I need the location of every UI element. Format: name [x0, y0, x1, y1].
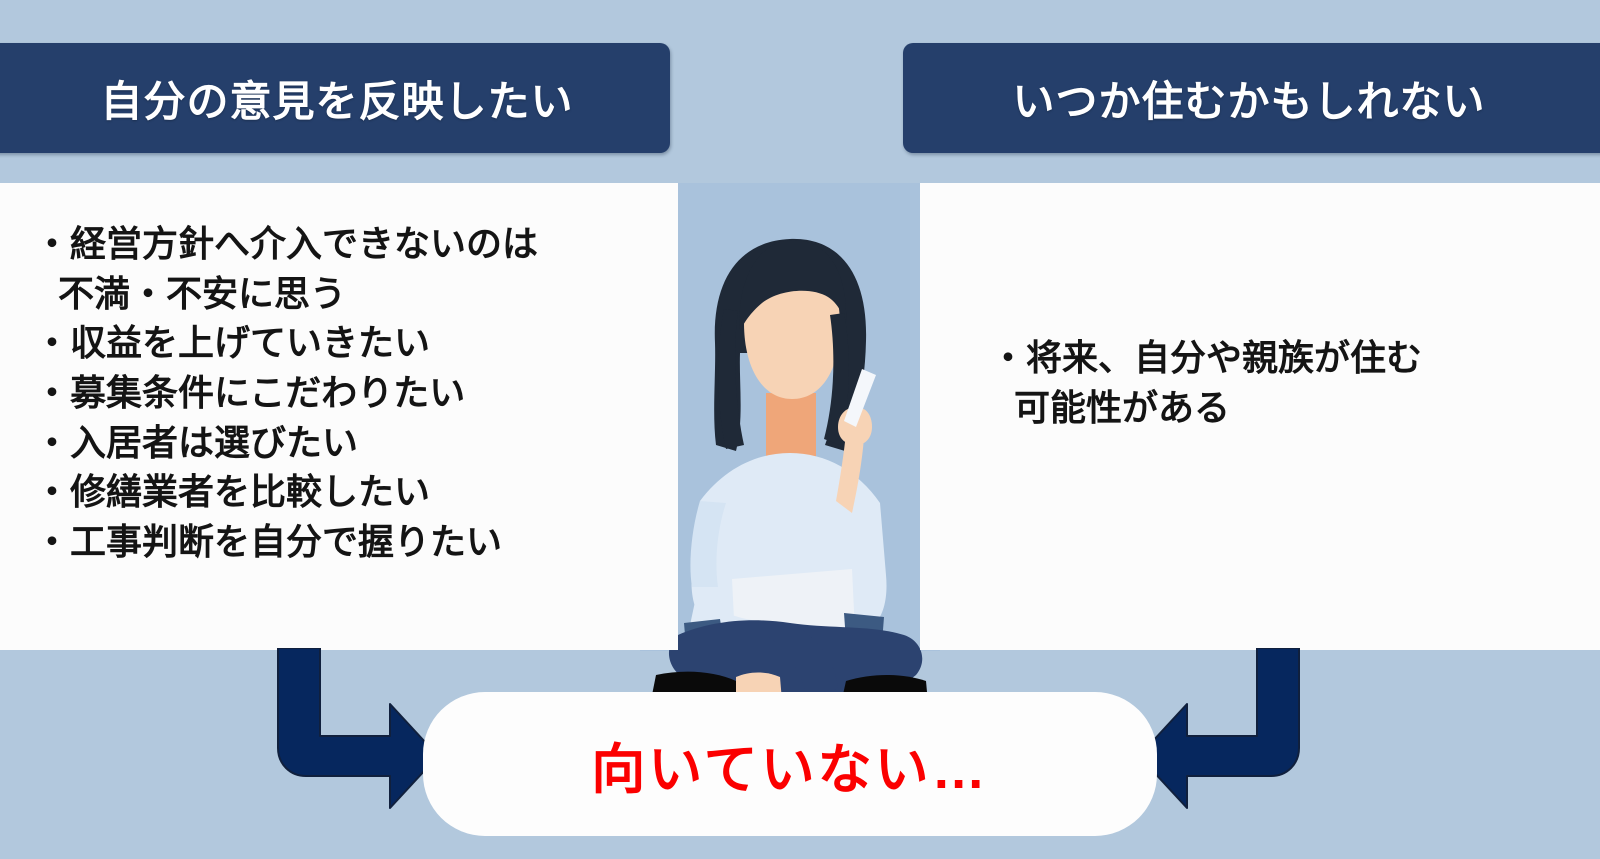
list-item: ・将来、自分や親族が住む 可能性がある: [990, 333, 1582, 432]
elbow-arrow-right-icon: [272, 648, 442, 820]
list-item: ・収益を上げていきたい: [34, 318, 660, 368]
elbow-arrow-left-icon: [1135, 648, 1305, 820]
header-chip-left-label: 自分の意見を反映したい: [76, 68, 573, 129]
list-item: ・修繕業者を比較したい: [34, 467, 660, 517]
list-item: ・経営方針へ介入できないのは 不満・不安に思う: [34, 219, 660, 318]
conclusion-pill: 向いていない…: [423, 692, 1157, 836]
bullet-list-right: ・将来、自分や親族が住む 可能性がある: [920, 183, 1600, 432]
slide-canvas: 自分の意見を反映したい いつか住むかもしれない ・経営方針へ介入できないのは 不…: [0, 0, 1600, 859]
header-chip-right: いつか住むかもしれない: [903, 43, 1600, 153]
list-item: ・募集条件にこだわりたい: [34, 368, 660, 418]
conclusion-label: 向いていない…: [591, 725, 988, 804]
bullet-list-left: ・経営方針へ介入できないのは 不満・不安に思う ・収益を上げていきたい ・募集条…: [0, 183, 678, 567]
seated-woman-illustration: [640, 183, 940, 713]
header-chip-right-label: いつか住むかもしれない: [1012, 68, 1513, 129]
list-item: ・入居者は選びたい: [34, 418, 660, 468]
panel-right: ・将来、自分や親族が住む 可能性がある: [920, 183, 1600, 650]
panel-left: ・経営方針へ介入できないのは 不満・不安に思う ・収益を上げていきたい ・募集条…: [0, 183, 678, 650]
header-chip-left: 自分の意見を反映したい: [0, 43, 670, 153]
list-item: ・工事判断を自分で握りたい: [34, 517, 660, 567]
